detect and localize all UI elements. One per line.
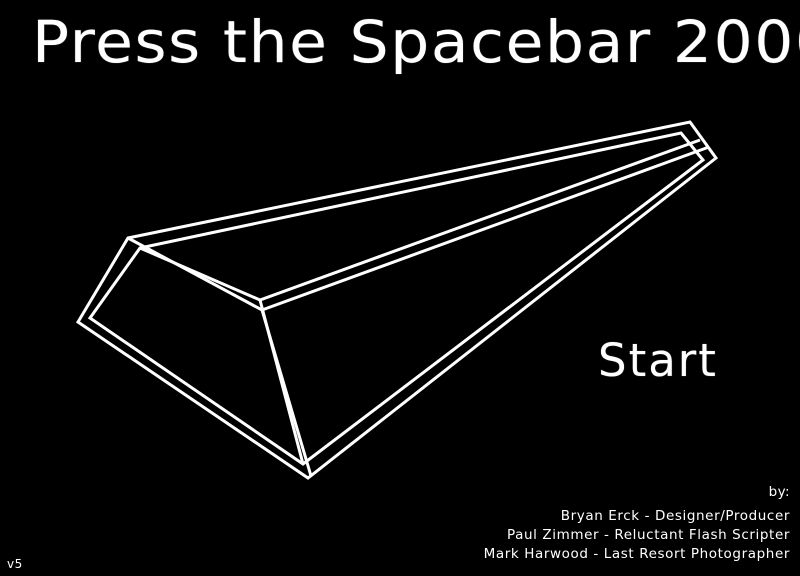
spacebar-inner-outline xyxy=(90,133,703,464)
credit-line-scripter: Paul Zimmer - Reluctant Flash Scripter xyxy=(230,526,790,545)
credits-by-label: by: xyxy=(230,483,790,502)
version-label: v5 xyxy=(7,557,23,571)
credit-line-photographer: Mark Harwood - Last Resort Photographer xyxy=(230,545,790,564)
page-title: Press the Spacebar 2000 xyxy=(32,6,800,78)
credit-line-designer: Bryan Erck - Designer/Producer xyxy=(230,507,790,526)
spacebar-front-corner-edge xyxy=(260,300,303,464)
spacebar-outer-outline xyxy=(78,122,716,478)
start-button[interactable]: Start xyxy=(598,333,718,389)
credits-block: by: Bryan Erck - Designer/Producer Paul … xyxy=(230,483,790,564)
game-title-screen: Press the Spacebar 2000 Start by: Bryan … xyxy=(0,0,800,576)
spacebar-top-face-edge xyxy=(140,140,700,300)
spacebar-front-corner-edge-inner xyxy=(262,310,311,476)
spacebar-top-face-edge-inner xyxy=(128,147,709,310)
